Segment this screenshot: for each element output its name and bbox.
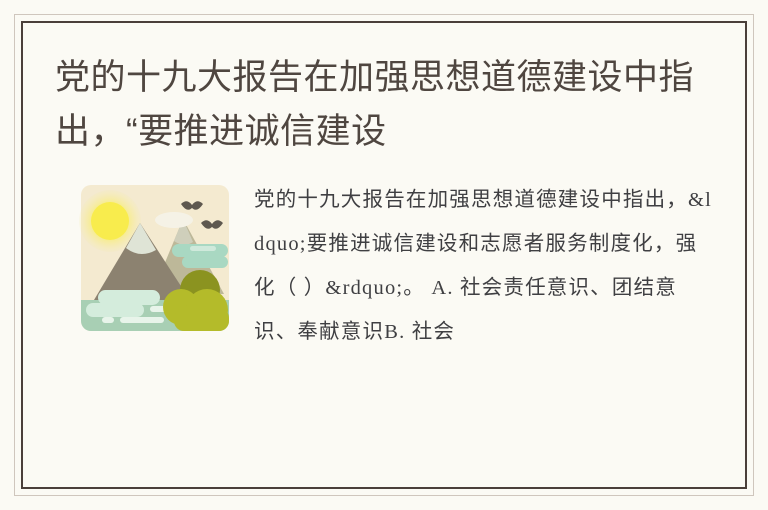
page-frame-inner: 党的十九大报告在加强思想道德建设中指出，“要推进诚信建设	[21, 21, 747, 489]
page-title: 党的十九大报告在加强思想道德建设中指出，“要推进诚信建设	[55, 51, 713, 159]
content-area: 党的十九大报告在加强思想道德建设中指出，“要推进诚信建设	[23, 23, 745, 487]
mountain-landscape-icon	[78, 182, 232, 334]
article-block: 党的十九大报告在加强思想道德建设中指出，&ldquo;要推进诚信建设和志愿者服务…	[55, 176, 713, 354]
article-thumbnail	[78, 182, 232, 334]
page-frame: 党的十九大报告在加强思想道德建设中指出，“要推进诚信建设	[14, 14, 754, 496]
article-body: 党的十九大报告在加强思想道德建设中指出，&ldquo;要推进诚信建设和志愿者服务…	[254, 178, 713, 354]
